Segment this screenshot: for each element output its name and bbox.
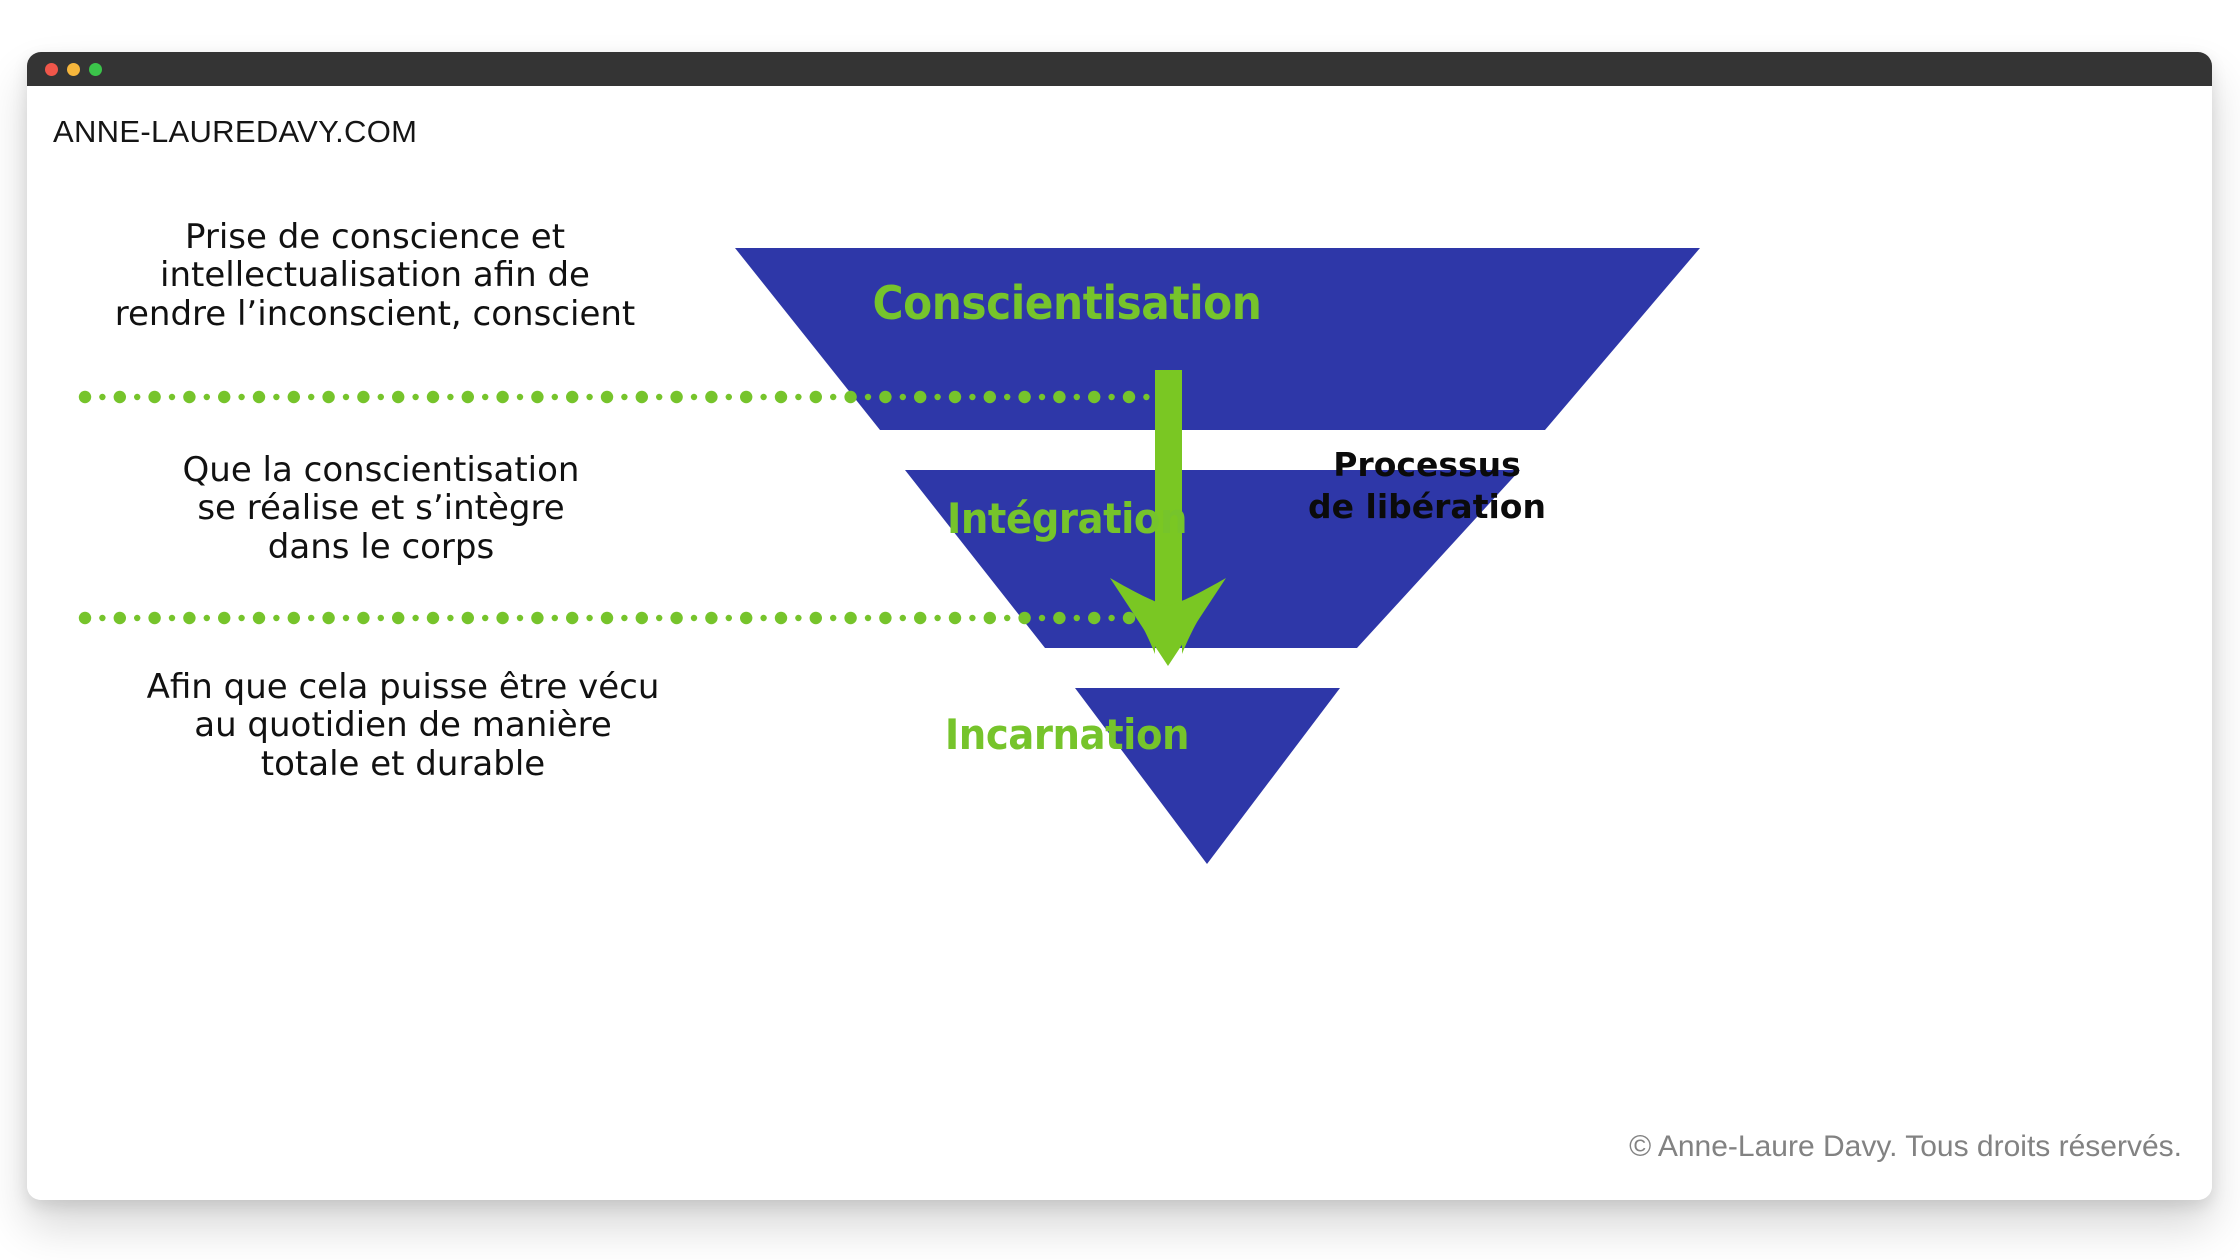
site-name: ANNE-LAUREDAVY.COM <box>53 114 417 150</box>
stage-description-conscientisation: Prise de conscience et intellectualisati… <box>57 218 693 333</box>
stage-description-incarnation: Afin que cela puisse être vécu au quotid… <box>83 668 723 783</box>
traffic-light-controls <box>45 63 102 76</box>
footer-copyright: © Anne-Laure Davy. Tous droits réservés. <box>1629 1130 2182 1164</box>
separator-dotted-line-2 <box>79 612 1170 624</box>
stage-description-integration: Que la conscientisation se réalise et s’… <box>101 451 661 566</box>
minimize-button[interactable] <box>67 63 80 76</box>
window-title-bar <box>27 52 2212 86</box>
process-caption: Processus de libération <box>1217 444 1637 527</box>
separator-dotted-line-1 <box>79 391 1170 403</box>
close-button[interactable] <box>45 63 58 76</box>
page-canvas: ANNE-LAUREDAVY.COM <box>27 86 2212 1200</box>
funnel-label-conscientisation: Conscientisation <box>717 276 1416 330</box>
browser-window: ANNE-LAUREDAVY.COM <box>27 52 2212 1200</box>
funnel-label-incarnation: Incarnation <box>717 710 1416 759</box>
maximize-button[interactable] <box>89 63 102 76</box>
